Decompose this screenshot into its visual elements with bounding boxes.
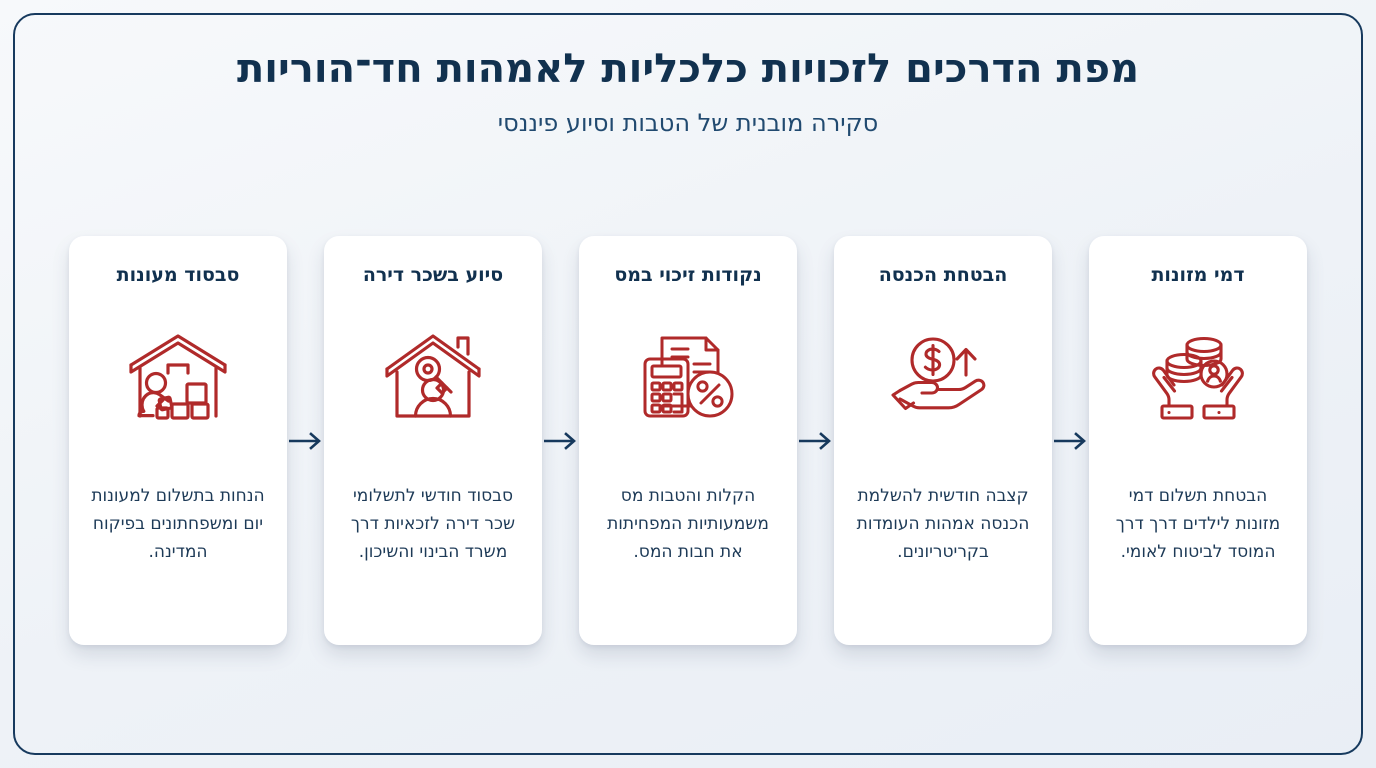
step-title: הבטחת הכנסה: [879, 264, 1008, 288]
step-title: דמי מזונות: [1151, 264, 1244, 288]
step-title: סיוע בשכר דירה: [363, 264, 503, 288]
page-subtitle: סקירה מובנית של הטבות וסיוע פיננסי: [0, 108, 1376, 139]
step-card-1[interactable]: דמי מזונות: [1089, 236, 1307, 645]
daycare-child-blocks-house-icon: [123, 326, 233, 430]
step-title: נקודות זיכוי במס: [614, 264, 761, 288]
hand-holding-dollar-coin-arrow-up-icon: [888, 326, 998, 430]
infographic-page: מפת הדרכים לזכויות כלכליות לאמהות חד־הור…: [0, 0, 1376, 768]
calculator-document-percent-icon: [633, 326, 743, 430]
step-description: קצבה חודשית להשלמת הכנסה אמהות העומדות ב…: [850, 482, 1036, 566]
arrow-right-icon: [1052, 236, 1089, 645]
page-title: מפת הדרכים לזכויות כלכליות לאמהות חד־הור…: [0, 44, 1376, 94]
arrow-right-icon: [542, 236, 579, 645]
arrow-right-icon: [797, 236, 834, 645]
step-description: סבסוד חודשי לתשלומי שכר דירה לזכאיות דרך…: [340, 482, 526, 566]
hands-holding-coins-icon: [1143, 326, 1253, 430]
header: מפת הדרכים לזכויות כלכליות לאמהות חד־הור…: [0, 44, 1376, 139]
step-card-5[interactable]: סבסוד מעונות: [69, 236, 287, 645]
step-description: הבטחת תשלום דמי מזונות לילדים דרך דרך המ…: [1105, 482, 1291, 566]
step-description: הנחות בתשלום למעונות יום ומשפחתונים בפיק…: [85, 482, 271, 566]
arrow-right-icon: [287, 236, 324, 645]
steps-flow: דמי מזונות: [69, 236, 1307, 646]
step-title: סבסוד מעונות: [117, 264, 240, 288]
step-card-3[interactable]: נקודות זיכוי במס: [579, 236, 797, 645]
house-key-person-icon: [378, 326, 488, 430]
step-card-2[interactable]: הבטחת הכנסה קצבה חודשית להשלמת הכנסה אמה…: [834, 236, 1052, 645]
step-description: הקלות והטבות מס משמעותיות המפחיתות את חב…: [595, 482, 781, 566]
step-card-4[interactable]: סיוע בשכר דירה סבסוד חודשי לתשלומי שכר ד…: [324, 236, 542, 645]
